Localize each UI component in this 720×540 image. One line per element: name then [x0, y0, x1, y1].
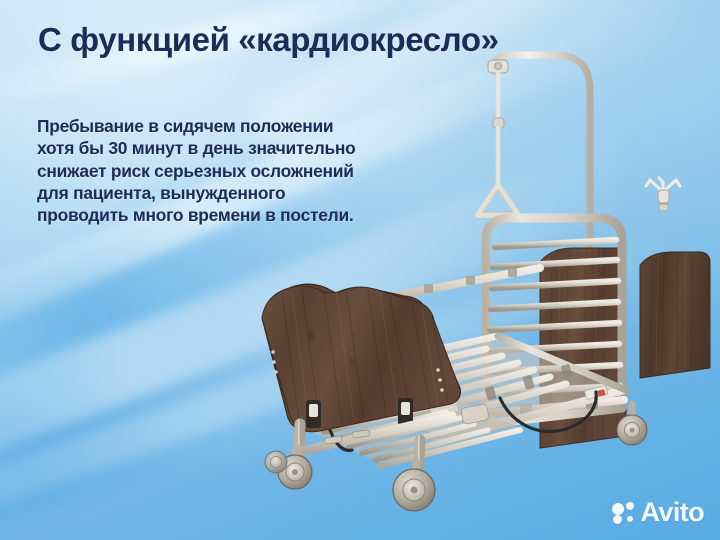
caster-wheel-rear-left	[265, 451, 287, 473]
body-paragraph: Пребывание в сидячем положении хотя бы 3…	[37, 115, 357, 226]
avito-dots-icon	[612, 502, 636, 524]
avito-watermark: Avito	[612, 499, 705, 526]
page-title: С функцией «кардиокресло»	[38, 20, 499, 60]
footboard-panel	[640, 252, 710, 378]
avito-wordmark: Avito	[641, 499, 705, 526]
product-illustration	[0, 0, 720, 540]
caster-wheel-front-center	[393, 462, 435, 511]
promo-image-canvas: С функцией «кардиокресло» Пребывание в с…	[0, 0, 720, 540]
